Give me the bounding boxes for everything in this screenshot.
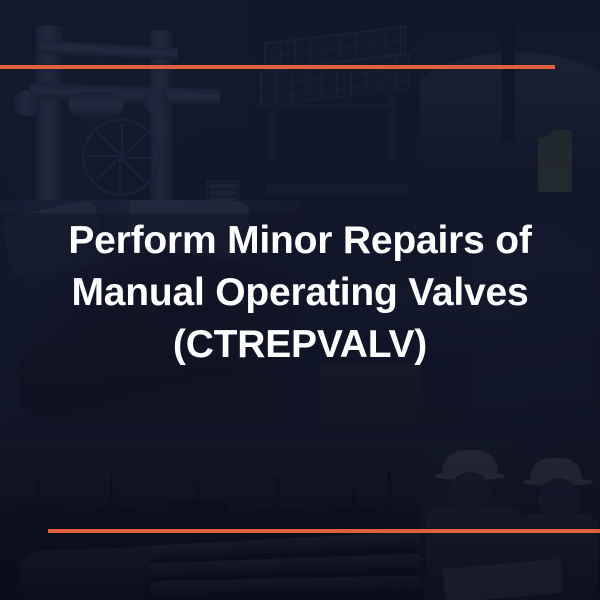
top-accent-rule xyxy=(0,65,555,69)
bottom-accent-rule xyxy=(48,529,600,533)
course-title-line-1: Perform Minor Repairs of xyxy=(68,219,531,262)
course-title-line-3: (CTREPVALV) xyxy=(28,319,572,371)
course-title-card: Perform Minor Repairs of Manual Operatin… xyxy=(0,0,600,600)
course-title: Perform Minor Repairs of Manual Operatin… xyxy=(0,215,600,371)
course-title-line-2: Manual Operating Valves xyxy=(28,267,572,319)
